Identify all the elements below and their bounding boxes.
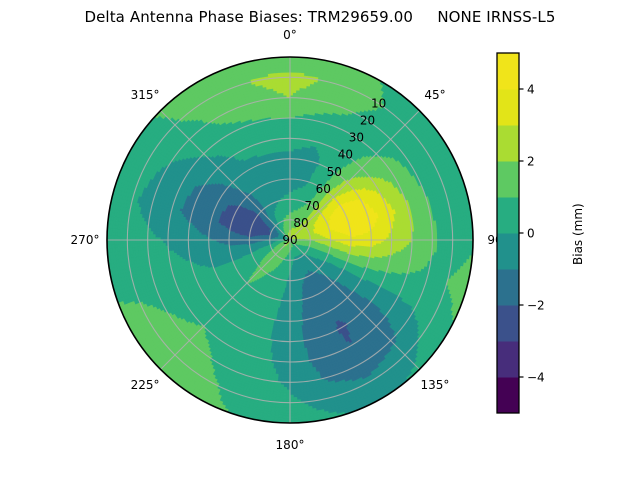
contour-cell [290, 60, 294, 63]
contour-cell [293, 103, 296, 106]
contour-cell [293, 90, 296, 93]
polar-axes: 0°45°90135°180°225°270°315°1020304050607… [0, 0, 640, 480]
contour-cell [293, 121, 296, 124]
contour-cell [293, 105, 296, 108]
contour-cell [293, 110, 296, 113]
contour-cell [290, 70, 294, 73]
contour-cell [290, 62, 294, 65]
contour-cell [290, 65, 294, 68]
contour-cell [293, 88, 296, 91]
contour-cell [293, 93, 296, 96]
contour-cell [293, 100, 296, 103]
figure-canvas: Delta Antenna Phase Biases: TRM29659.00 … [0, 0, 640, 480]
contour-cell [293, 113, 296, 116]
contour-cell [290, 67, 294, 70]
contour-cell [293, 85, 296, 88]
contour-cell [293, 108, 296, 111]
